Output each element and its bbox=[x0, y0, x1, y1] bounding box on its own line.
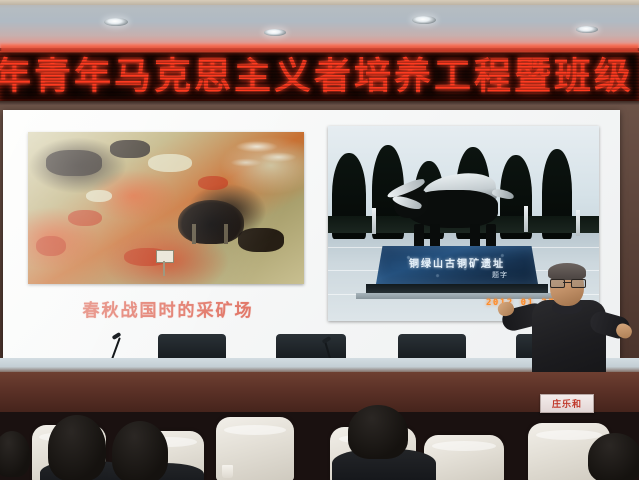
mine-shaft-entrance bbox=[178, 200, 244, 244]
ceiling bbox=[0, 0, 639, 48]
site-marker-post bbox=[163, 261, 165, 276]
audience-area bbox=[0, 405, 639, 480]
ceiling-trim bbox=[0, 0, 639, 5]
presenter-glasses bbox=[550, 279, 584, 286]
bollard bbox=[372, 208, 376, 234]
led-banner-text: 年青年马克思主义者培养工程暨班级 bbox=[0, 58, 634, 95]
stage-chair bbox=[158, 334, 226, 360]
ceiling-downlight bbox=[104, 18, 128, 26]
audience-head bbox=[0, 431, 30, 477]
audience-head bbox=[112, 421, 168, 480]
rock-shadow bbox=[110, 140, 150, 158]
site-marker-sign bbox=[156, 250, 174, 263]
audience-chair bbox=[424, 435, 504, 480]
rock-highlight bbox=[86, 190, 112, 202]
mine-timber-prop bbox=[224, 224, 228, 244]
ore-patch bbox=[68, 210, 102, 226]
bollard bbox=[576, 210, 580, 236]
presenter-hair bbox=[548, 263, 586, 280]
glasses-lens bbox=[550, 279, 565, 288]
ore-patch bbox=[36, 236, 66, 256]
stage-chair bbox=[276, 334, 346, 360]
ceiling-downlight bbox=[576, 26, 598, 33]
ore-patch bbox=[198, 176, 228, 190]
stage-chair bbox=[398, 334, 466, 360]
ceiling-downlight bbox=[412, 16, 436, 24]
led-banner: 年青年马克思主义者培养工程暨班级 bbox=[0, 51, 639, 101]
audience-head bbox=[48, 415, 106, 480]
ceiling-downlight bbox=[264, 29, 286, 36]
rock-highlight bbox=[148, 154, 192, 172]
dry-foliage bbox=[228, 134, 300, 176]
glasses-bridge bbox=[563, 282, 571, 283]
slide-caption: 春秋战国时的采矿场 bbox=[37, 296, 299, 321]
rock-shadow bbox=[238, 228, 284, 252]
audience-head bbox=[348, 405, 408, 459]
audience-head bbox=[588, 433, 639, 480]
paper-cup bbox=[222, 465, 233, 478]
mine-timber-prop bbox=[192, 224, 196, 244]
conference-hall-scene: 年青年马克思主义者培养工程暨班级 bbox=[0, 0, 639, 480]
bull-sculpture bbox=[388, 168, 516, 244]
rock-shadow bbox=[46, 150, 102, 176]
glasses-lens bbox=[571, 279, 586, 288]
bollard bbox=[524, 206, 528, 232]
slide-left-photo bbox=[28, 132, 304, 284]
